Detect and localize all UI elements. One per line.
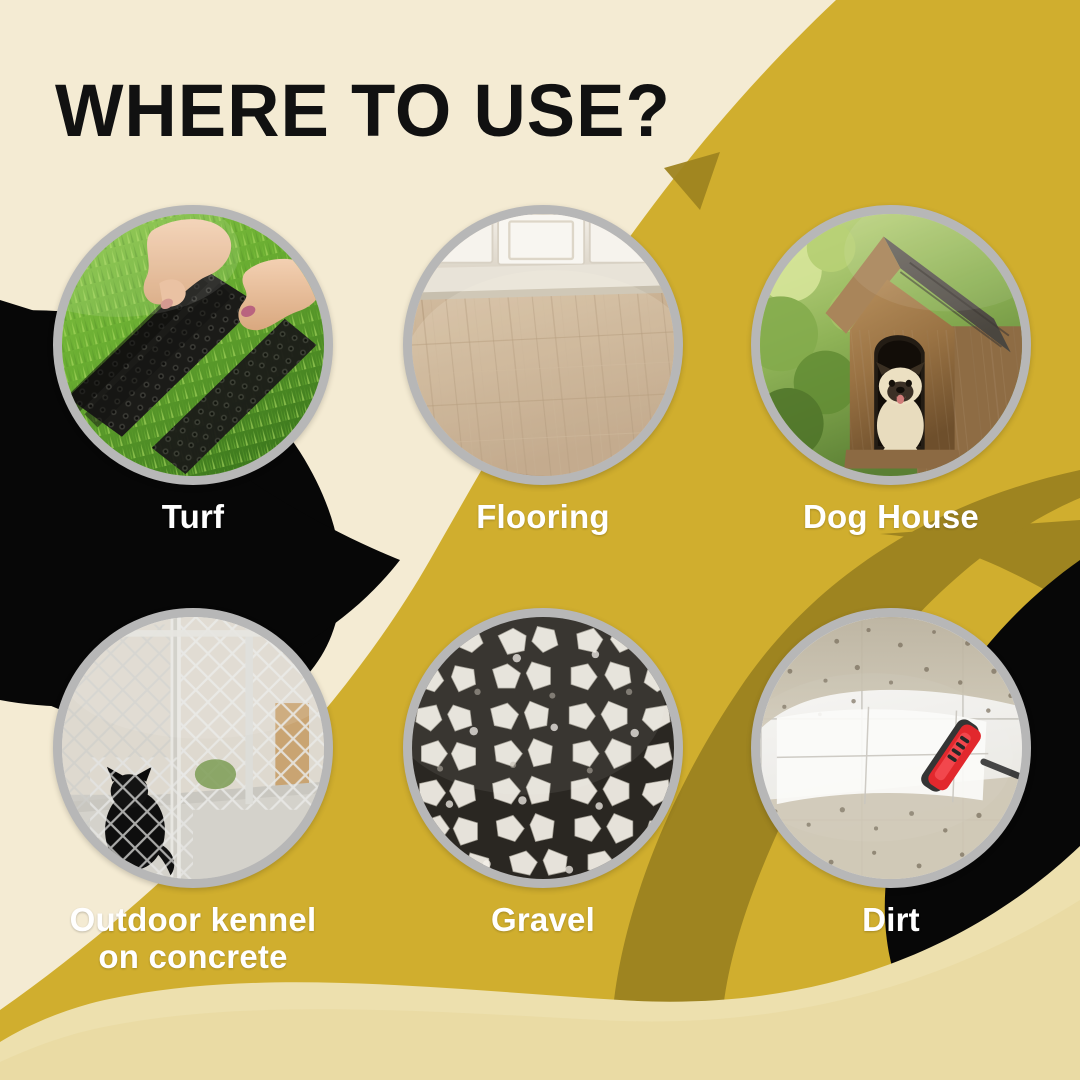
caption-dog-house: Dog House xyxy=(751,499,1031,536)
gravel-image xyxy=(412,617,674,879)
outdoor-kennel-image xyxy=(62,617,324,879)
gravel-photo[interactable] xyxy=(403,608,683,888)
flooring-photo[interactable] xyxy=(403,205,683,485)
page-title: WHERE TO USE? xyxy=(55,74,671,148)
outdoor-kennel-photo[interactable] xyxy=(53,608,333,888)
dog-house-image xyxy=(760,214,1022,476)
turf-photo[interactable] xyxy=(53,205,333,485)
item-flooring[interactable]: Flooring xyxy=(403,205,683,536)
item-dirt[interactable]: Dirt xyxy=(751,608,1031,939)
item-gravel[interactable]: Gravel xyxy=(403,608,683,939)
dirt-photo[interactable] xyxy=(751,608,1031,888)
caption-flooring: Flooring xyxy=(403,499,683,536)
dirt-image xyxy=(760,617,1022,879)
item-dog-house[interactable]: Dog House xyxy=(751,205,1031,536)
caption-turf: Turf xyxy=(53,499,333,536)
dog-house-photo[interactable] xyxy=(751,205,1031,485)
item-outdoor-kennel[interactable]: Outdoor kennel on concrete xyxy=(53,608,333,976)
flooring-image xyxy=(412,214,674,476)
caption-outdoor-kennel: Outdoor kennel on concrete xyxy=(53,902,333,976)
caption-gravel: Gravel xyxy=(403,902,683,939)
item-turf[interactable]: Turf xyxy=(53,205,333,536)
infographic-canvas: WHERE TO USE? xyxy=(0,0,1080,1080)
caption-dirt: Dirt xyxy=(751,902,1031,939)
turf-image xyxy=(62,214,324,476)
